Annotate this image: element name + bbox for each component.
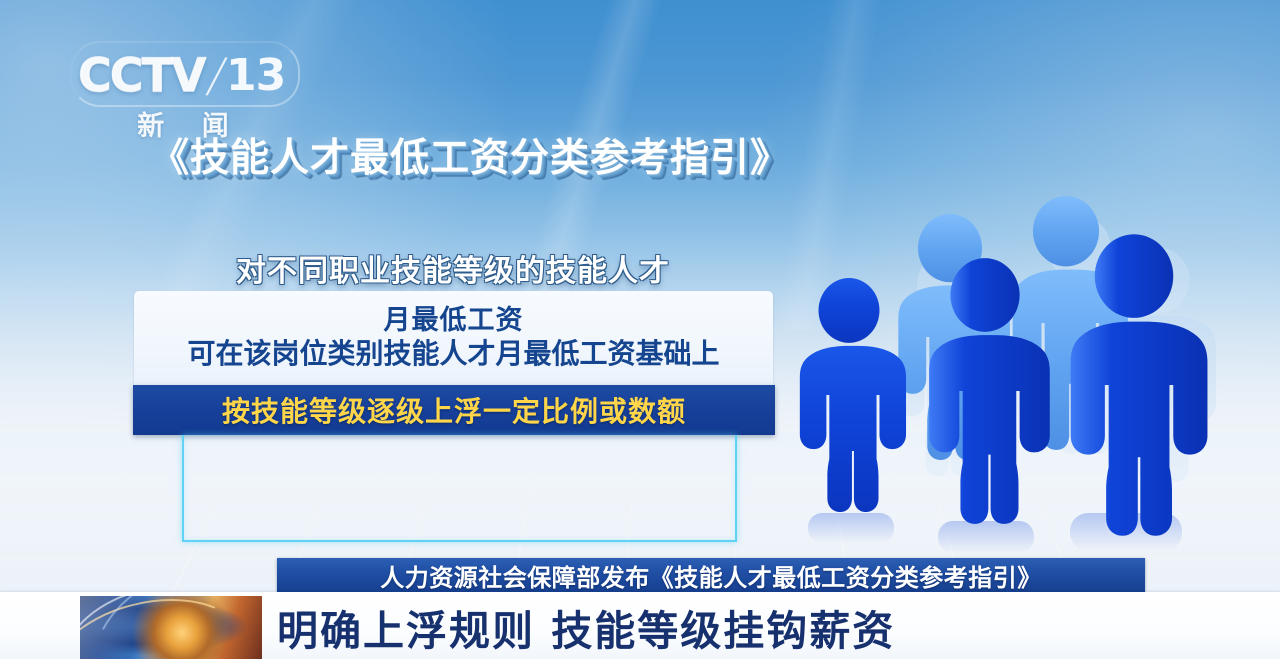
broadcast-frame: CCTV / 13 新 闻 《技能人才最低工资分类参考指引》 对不同职业技能等级…	[0, 0, 1280, 659]
info-panel-line-1: 月最低工资	[384, 306, 524, 336]
graphic-title: 《技能人才最低工资分类参考指引》	[150, 127, 790, 183]
highlight-bar-text: 按技能等级逐级上浮一定比例或数额	[222, 390, 686, 430]
info-panel-line-2: 可在该岗位类别技能人才月最低工资基础上	[187, 339, 719, 370]
highlight-bar: 按技能等级逐级上浮一定比例或数额	[133, 385, 775, 435]
people-group-icon	[770, 195, 1240, 560]
lower-third-headline-text: 明确上浮规则 技能等级挂钩薪资	[277, 597, 895, 657]
cyan-bracket-frame	[182, 435, 737, 542]
info-panel: 月最低工资 可在该岗位类别技能人才月最低工资基础上	[134, 291, 773, 385]
globe-graphic-icon	[80, 596, 262, 659]
logo-ring-shape	[70, 41, 300, 107]
lower-third-topic-text: 人力资源社会保障部发布《技能人才最低工资分类参考指引》	[380, 558, 1042, 593]
graphic-subheading: 对不同职业技能等级的技能人才	[236, 246, 670, 290]
lower-third-topic-bar: 人力资源社会保障部发布《技能人才最低工资分类参考指引》	[277, 558, 1145, 592]
